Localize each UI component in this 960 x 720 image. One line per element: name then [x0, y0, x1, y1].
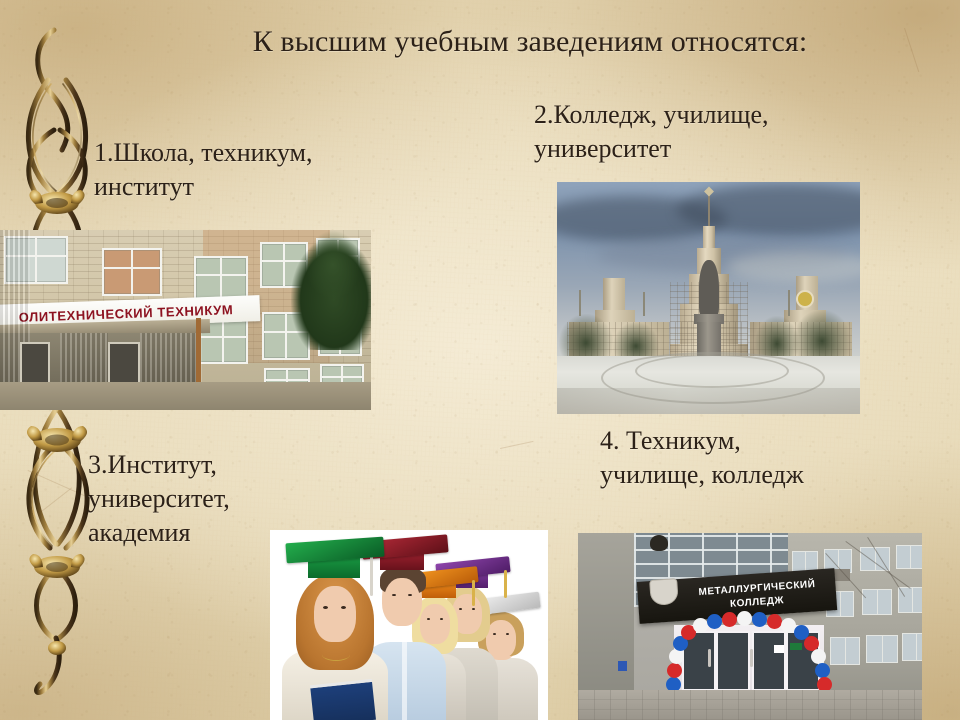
window [102, 248, 162, 296]
floodlight [650, 535, 668, 551]
lamp-post [579, 290, 581, 316]
balloon [752, 612, 767, 627]
window [896, 545, 922, 569]
graduate-tassel [370, 552, 373, 596]
balloon [815, 663, 830, 678]
tower-spire [708, 192, 710, 230]
list-item-3: 3.Институт, университет, академия [88, 448, 318, 549]
photo-msu-main-building [557, 182, 860, 414]
graduate-tassel [504, 570, 507, 598]
balloon [811, 649, 826, 664]
graduate-eye [459, 608, 462, 610]
balloon [767, 614, 782, 629]
snow-plaza-ring [635, 354, 789, 388]
pavement [0, 382, 371, 410]
window [902, 633, 922, 661]
snow-tire-tracks [557, 388, 860, 414]
photo-graduates [270, 530, 548, 720]
graduate-face [314, 586, 356, 642]
tree [559, 314, 613, 362]
balloon [667, 663, 682, 678]
balloon [722, 612, 737, 627]
necklace [322, 648, 350, 661]
graduate-face [420, 604, 450, 644]
window [862, 589, 892, 615]
shirt-placket [402, 642, 407, 720]
photo-metallurgical-college: МЕТАЛЛУРГИЧЕСКИЙ КОЛЛЕДЖ [578, 533, 922, 720]
lamp-post [643, 292, 645, 316]
graduate-eye [341, 606, 346, 609]
held-book [310, 679, 376, 720]
list-item-2: 2.Колледж, училище, университет [534, 98, 934, 166]
graduate-eye [323, 606, 328, 609]
lamp-post [788, 290, 790, 316]
graduate-tassel [472, 580, 475, 606]
photo-polytechnic-college: ОЛИТЕХНИЧЕСКИЙ ТЕХНИКУМ [0, 230, 371, 410]
page-title: К высшим учебным заведениям относятся: [110, 22, 950, 61]
pavement-tiles [578, 690, 922, 720]
wall-notice [618, 661, 627, 671]
lomonosov-statue [699, 260, 719, 318]
balloon [707, 614, 722, 629]
graduate-eye [392, 594, 396, 596]
graduate-eye [408, 594, 412, 596]
clock-face [796, 290, 814, 308]
balloon [669, 649, 684, 664]
list-item-4: 4. Техникум, училище, колледж [600, 424, 930, 492]
window [866, 635, 898, 663]
balloon [737, 611, 752, 626]
graduate-eye [440, 618, 443, 620]
tree [305, 230, 361, 300]
slide-canvas: ОЛИТЕХНИЧЕСКИЙ ТЕХНИКУМ [0, 0, 960, 720]
graduate-eye [427, 618, 430, 620]
graduate-face [486, 620, 516, 658]
tree [793, 310, 851, 362]
balloon [693, 618, 708, 633]
list-item-1: 1.Школа, техникум, институт [94, 136, 464, 204]
graduate-eye [506, 633, 509, 635]
graduate-eye [472, 608, 475, 610]
graduate-eye [493, 633, 496, 635]
graduate-face [384, 578, 420, 626]
